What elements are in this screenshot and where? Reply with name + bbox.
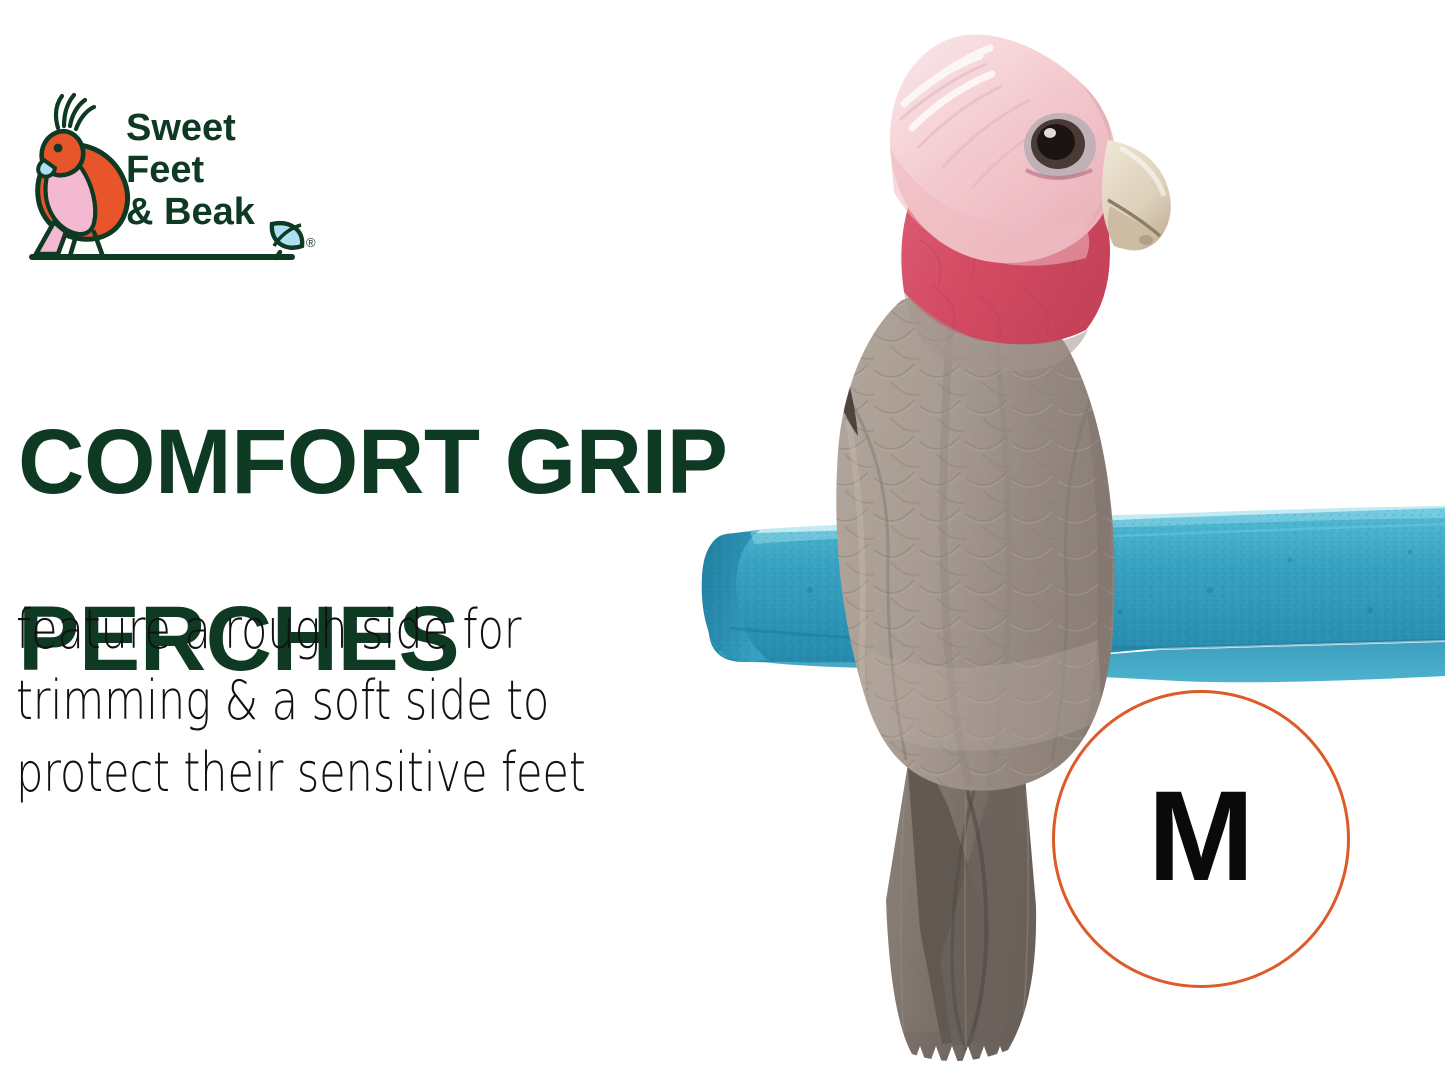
bird-eye xyxy=(1024,113,1096,179)
bird-beak xyxy=(1102,140,1171,251)
bird-eye-icon xyxy=(54,144,63,153)
subcopy-line-2: trimming & a soft side to xyxy=(16,665,648,736)
wordmark-line-2: Feet xyxy=(126,149,204,191)
product-description: feature a rough side for trimming & a so… xyxy=(16,594,648,808)
product-photo xyxy=(690,0,1445,1072)
cockatiel-bird-icon xyxy=(36,95,128,256)
wordmark-line-3: & Beak xyxy=(126,191,256,233)
subcopy-line-3: protect their sensitive feet xyxy=(16,737,648,808)
wordmark-line-1: Sweet xyxy=(126,107,236,149)
subcopy-line-1: feature a rough side for xyxy=(16,594,648,665)
registered-trademark-symbol: ® xyxy=(306,235,316,250)
size-badge: M xyxy=(1052,690,1350,988)
size-badge-label: M xyxy=(1148,773,1255,901)
product-infographic-page: Sweet Feet & Beak ® COMFORT GRIP PERCHES… xyxy=(0,0,1445,1072)
brand-logo: Sweet Feet & Beak ® xyxy=(14,84,324,264)
leaf-icon xyxy=(272,223,302,258)
